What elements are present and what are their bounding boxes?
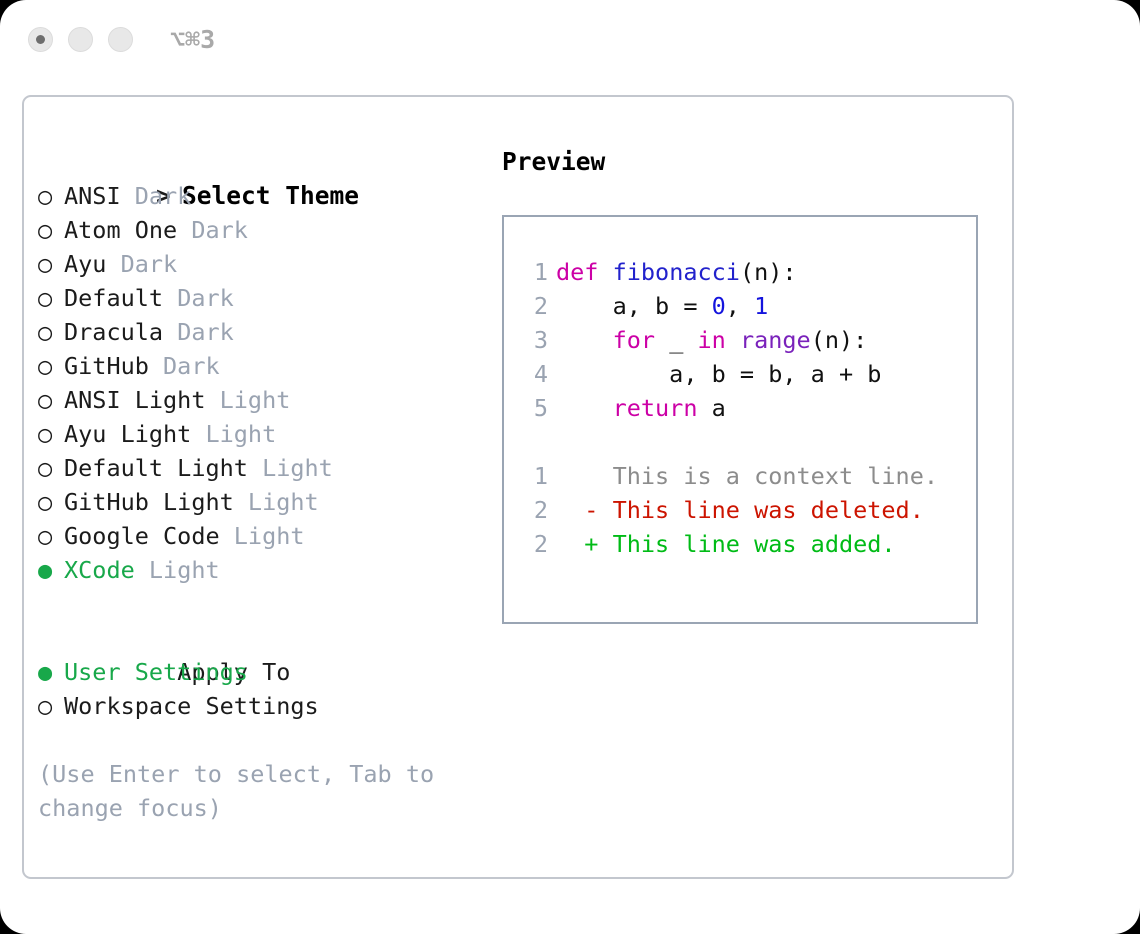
code-token-plain: (n): (811, 326, 868, 354)
code-line: 5 return a (522, 391, 976, 425)
app-root: ⌥⌘3 >Select Theme ○ANSI Dark○Atom One Da… (0, 0, 1140, 934)
diff-line-number: 1 (522, 459, 548, 493)
radio-selected-icon: ● (38, 655, 64, 689)
radio-unselected-icon: ○ (38, 451, 64, 485)
theme-option-label: Default (64, 284, 163, 312)
code-token-plain: (n): (740, 258, 797, 286)
theme-option-label: GitHub Light (64, 488, 234, 516)
radio-unselected-icon: ○ (38, 417, 64, 451)
code-token-plain: _ (655, 326, 697, 354)
theme-option-label: Ayu (64, 250, 106, 278)
section-spacer (38, 587, 488, 621)
theme-option-label: Default Light (64, 454, 248, 482)
theme-option-label: ANSI Light (64, 386, 205, 414)
code-token-plain (556, 394, 613, 422)
code-token-plain (598, 258, 612, 286)
radio-unselected-icon: ○ (38, 247, 64, 281)
diff-line-text: This line was added. (613, 530, 896, 558)
theme-option-default-light[interactable]: ○Default Light Light (38, 451, 488, 485)
theme-option-variant-badge: Light (220, 522, 305, 550)
radio-unselected-icon: ○ (38, 519, 64, 553)
window-dot-active[interactable] (28, 27, 53, 52)
code-token-plain: a, b = (556, 292, 712, 320)
code-token-plain: a, b = b, a + b (556, 360, 881, 388)
code-token-kw: return (613, 394, 698, 422)
radio-unselected-icon: ○ (38, 689, 64, 723)
theme-option-dracula[interactable]: ○Dracula Dark (38, 315, 488, 349)
keyboard-hint-text: (Use Enter to select, Tab to change focu… (38, 757, 458, 825)
theme-option-github-light[interactable]: ○GitHub Light Light (38, 485, 488, 519)
theme-list: ○ANSI Dark○Atom One Dark○Ayu Dark○Defaul… (38, 179, 488, 587)
code-line: 4 a, b = b, a + b (522, 357, 976, 391)
hint-spacer (38, 723, 488, 757)
window-dot-2[interactable] (68, 27, 93, 52)
diff-line-add: 2 + This line was added. (522, 527, 976, 561)
theme-selection-column: >Select Theme ○ANSI Dark○Atom One Dark○A… (38, 145, 488, 825)
apply-to-header: Apply To (38, 621, 488, 655)
diff-line-text: This line was deleted. (613, 496, 924, 524)
code-diff-gap (522, 425, 976, 459)
theme-option-xcode[interactable]: ●XCode Light (38, 553, 488, 587)
code-line: 1def fibonacci(n): (522, 255, 976, 289)
theme-option-variant-badge: Light (234, 488, 319, 516)
theme-option-github[interactable]: ○GitHub Dark (38, 349, 488, 383)
window-dot-3[interactable] (108, 27, 133, 52)
code-token-kw: def (556, 258, 598, 286)
theme-option-ayu[interactable]: ○Ayu Dark (38, 247, 488, 281)
radio-unselected-icon: ○ (38, 383, 64, 417)
radio-unselected-icon: ○ (38, 213, 64, 247)
theme-option-label: ANSI (64, 182, 121, 210)
radio-selected-icon: ● (38, 553, 64, 587)
theme-option-atom-one[interactable]: ○Atom One Dark (38, 213, 488, 247)
diff-sign-marker: - (556, 496, 613, 524)
title-bar: ⌥⌘3 (0, 0, 1140, 78)
theme-option-label: GitHub (64, 352, 149, 380)
code-line-number: 1 (522, 255, 548, 289)
code-line: 2 a, b = 0, 1 (522, 289, 976, 323)
code-token-num: 1 (754, 292, 768, 320)
diff-line-del: 2 - This line was deleted. (522, 493, 976, 527)
diff-sample: 1 This is a context line.2 - This line w… (522, 459, 976, 561)
diff-line-ctx: 1 This is a context line. (522, 459, 976, 493)
select-theme-header-label: Select Theme (182, 181, 359, 210)
code-line-number: 2 (522, 289, 548, 323)
theme-option-variant-badge: Dark (149, 352, 220, 380)
theme-option-ansi-light[interactable]: ○ANSI Light Light (38, 383, 488, 417)
theme-option-variant-badge: Dark (163, 284, 234, 312)
theme-option-variant-badge: Dark (121, 182, 192, 210)
theme-option-label: Atom One (64, 216, 177, 244)
apply-to-option-label: Workspace Settings (64, 692, 319, 720)
theme-option-label: Google Code (64, 522, 220, 550)
code-token-call: range (740, 326, 811, 354)
theme-option-variant-badge: Light (248, 454, 333, 482)
preview-title: Preview (502, 145, 1002, 179)
theme-option-label: Dracula (64, 318, 163, 346)
code-token-kw: for (613, 326, 655, 354)
code-line: 3 for _ in range(n): (522, 323, 976, 357)
apply-to-option-workspace-settings[interactable]: ○Workspace Settings (38, 689, 488, 723)
code-line-number: 3 (522, 323, 548, 357)
theme-option-ayu-light[interactable]: ○Ayu Light Light (38, 417, 488, 451)
theme-option-variant-badge: Light (135, 556, 220, 584)
select-theme-header: >Select Theme (38, 145, 488, 179)
radio-unselected-icon: ○ (38, 179, 64, 213)
diff-line-number: 2 (522, 527, 548, 561)
radio-unselected-icon: ○ (38, 315, 64, 349)
keyboard-shortcut-label: ⌥⌘3 (170, 25, 215, 54)
theme-option-google-code[interactable]: ○Google Code Light (38, 519, 488, 553)
code-token-plain (556, 326, 613, 354)
code-token-plain: , (726, 292, 754, 320)
theme-option-default[interactable]: ○Default Dark (38, 281, 488, 315)
diff-line-number: 2 (522, 493, 548, 527)
theme-option-variant-badge: Light (191, 420, 276, 448)
theme-option-variant-badge: Dark (106, 250, 177, 278)
radio-unselected-icon: ○ (38, 281, 64, 315)
main-window-frame: >Select Theme ○ANSI Dark○Atom One Dark○A… (22, 95, 1014, 879)
theme-option-label: XCode (64, 556, 135, 584)
theme-option-variant-badge: Dark (177, 216, 248, 244)
diff-line-text: This is a context line. (613, 462, 938, 490)
active-indicator-dot (36, 35, 45, 44)
code-token-plain (726, 326, 740, 354)
radio-unselected-icon: ○ (38, 349, 64, 383)
theme-option-label: Ayu Light (64, 420, 191, 448)
code-token-plain: a (697, 394, 725, 422)
diff-sign-marker: + (556, 530, 613, 558)
code-token-fn: fibonacci (613, 258, 740, 286)
theme-option-variant-badge: Light (205, 386, 290, 414)
diff-sign-marker (556, 462, 613, 490)
code-token-kw: in (698, 326, 726, 354)
code-sample: 1def fibonacci(n):2 a, b = 0, 13 for _ i… (522, 255, 976, 425)
apply-to-option-label: User Settings (64, 658, 248, 686)
code-line-number: 4 (522, 357, 548, 391)
code-token-num: 0 (712, 292, 726, 320)
preview-column: Preview 1def fibonacci(n):2 a, b = 0, 13… (502, 145, 1002, 624)
preview-panel: 1def fibonacci(n):2 a, b = 0, 13 for _ i… (502, 215, 978, 624)
code-line-number: 5 (522, 391, 548, 425)
radio-unselected-icon: ○ (38, 485, 64, 519)
theme-option-variant-badge: Dark (163, 318, 234, 346)
